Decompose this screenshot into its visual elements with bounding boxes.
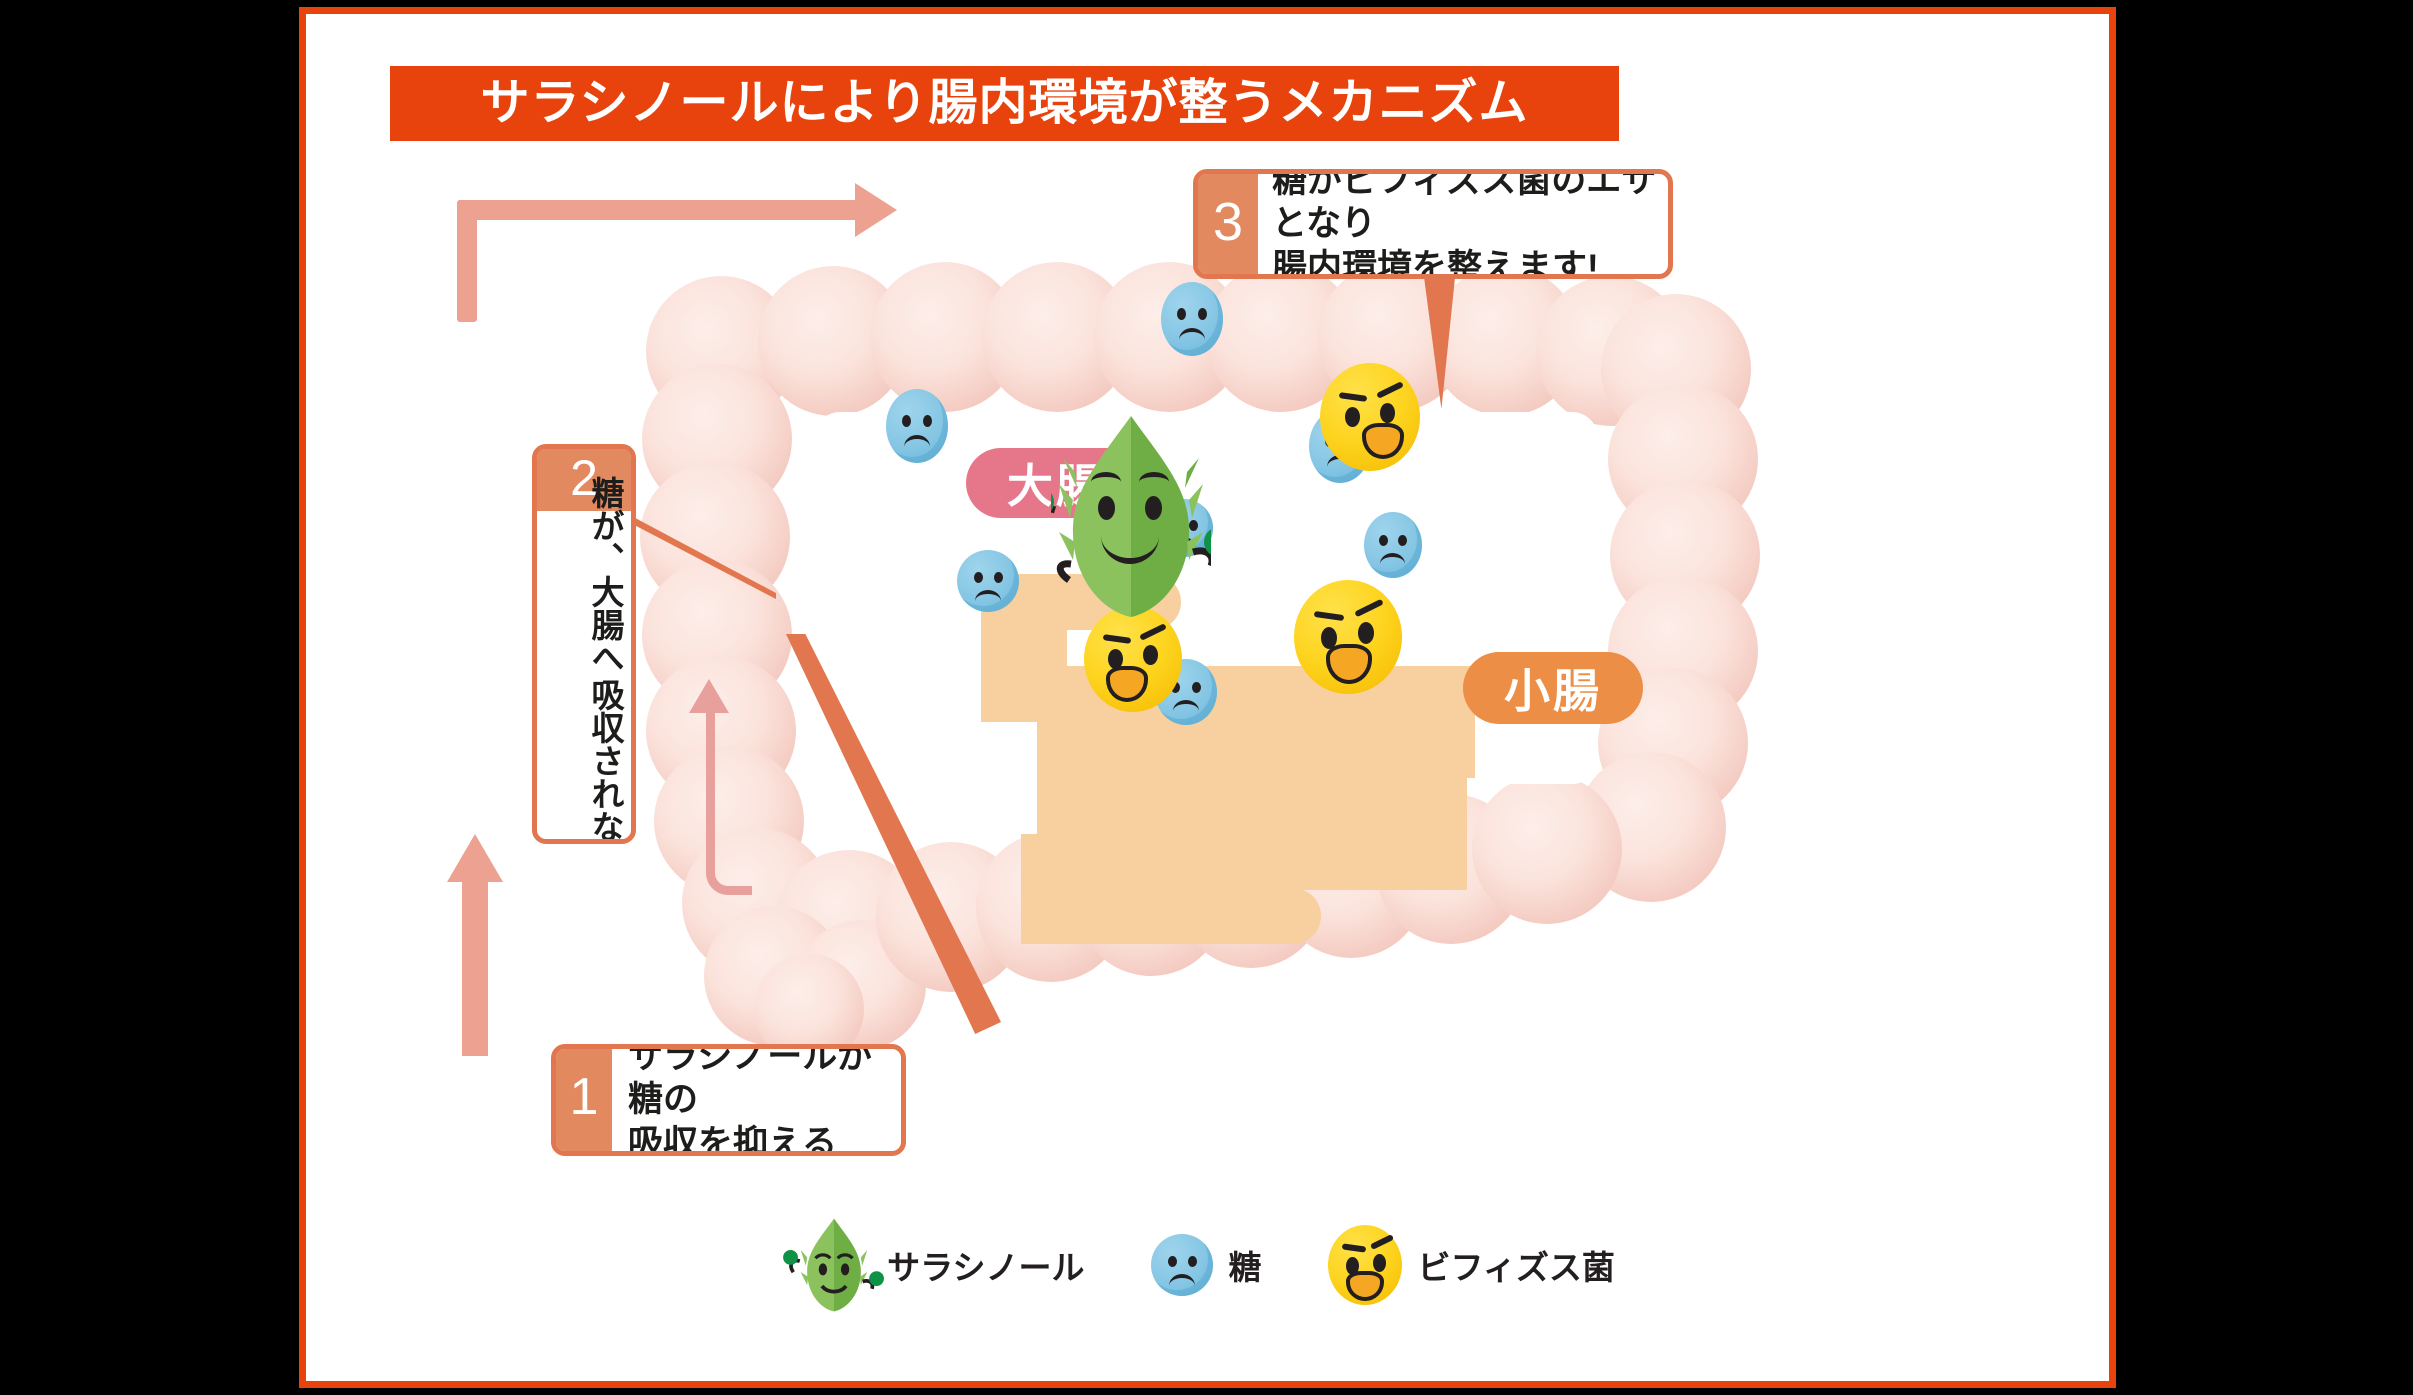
legend-label-salacinol: サラシノール — [887, 1241, 1084, 1289]
slide-frame: サラシノールにより腸内環境が整うメカニズム — [299, 7, 2116, 1388]
flow-arrow-step2-to-step3-vertical — [457, 200, 477, 322]
legend: サラシノール 糖 ビフィズス菌 — [556, 1210, 1856, 1320]
bifidobacteria-face-icon — [1328, 1225, 1402, 1305]
small-intestine-illustration — [981, 574, 1531, 994]
sugar-movement-arrow — [706, 707, 752, 895]
step-text-3: 糖がビフィズス菌のエサとなり 腸内環境を整えます! — [1258, 174, 1668, 274]
page-title: サラシノールにより腸内環境が整うメカニズム — [480, 79, 1528, 128]
flow-arrow-step1-to-step2-shaft — [462, 876, 488, 1056]
step-3-line-1: 糖がビフィズス菌のエサとなり — [1272, 169, 1668, 246]
legend-item-bifidobacteria: ビフィズス菌 — [1328, 1225, 1615, 1305]
legend-label-bifidobacteria: ビフィズス菌 — [1418, 1241, 1615, 1289]
sugar-face-icon — [1364, 512, 1422, 578]
step-3-line-2: 腸内環境を整えます! — [1272, 246, 1668, 279]
legend-item-sugar: 糖 — [1151, 1234, 1262, 1296]
step-number-1: 1 — [556, 1049, 612, 1151]
callout-step-3: 3 糖がビフィズス菌のエサとなり 腸内環境を整えます! — [1193, 169, 1673, 279]
step-2-line-2: 糖が、大腸へ — [585, 476, 625, 674]
sugar-face-icon — [957, 550, 1019, 612]
sugar-face-icon — [1161, 282, 1223, 356]
bifidobacteria-face-icon — [1320, 363, 1420, 471]
title-banner: サラシノールにより腸内環境が整うメカニズム — [390, 66, 1619, 141]
legend-label-sugar: 糖 — [1229, 1241, 1262, 1289]
sugar-face-icon — [886, 389, 948, 463]
legend-item-salacinol: サラシノール — [797, 1217, 1084, 1313]
sugar-movement-arrow-head — [689, 679, 729, 713]
bifidobacteria-face-icon — [1294, 580, 1402, 694]
leaf-character-icon — [1051, 414, 1211, 619]
step-text-1: サラシノールが糖の 吸収を抑える — [612, 1049, 901, 1151]
bifidobacteria-face-icon — [1084, 606, 1182, 712]
sugar-face-icon — [1151, 1234, 1213, 1296]
leaf-character-icon — [797, 1217, 871, 1313]
step-text-2: 吸収されなかった 糖が、大腸へ — [537, 511, 631, 844]
callout-step-1: 1 サラシノールが糖の 吸収を抑える — [551, 1044, 906, 1156]
label-pill-small-intestine: 小腸 — [1463, 652, 1643, 724]
step-1-line-2: 吸収を抑える — [628, 1122, 901, 1156]
screenshot-canvas: サラシノールにより腸内環境が整うメカニズム — [0, 0, 2413, 1395]
flow-arrow-step2-to-step3-head — [855, 183, 897, 237]
flow-arrow-step1-to-step2-head — [447, 834, 503, 882]
step-number-3: 3 — [1198, 174, 1258, 274]
flow-arrow-step2-to-step3-horizontal — [457, 200, 863, 220]
step-1-line-1: サラシノールが糖の — [628, 1044, 901, 1122]
callout-step-2: 2 吸収されなかった 糖が、大腸へ — [532, 444, 636, 844]
step-2-line-1: 吸収されなかった — [585, 678, 625, 844]
